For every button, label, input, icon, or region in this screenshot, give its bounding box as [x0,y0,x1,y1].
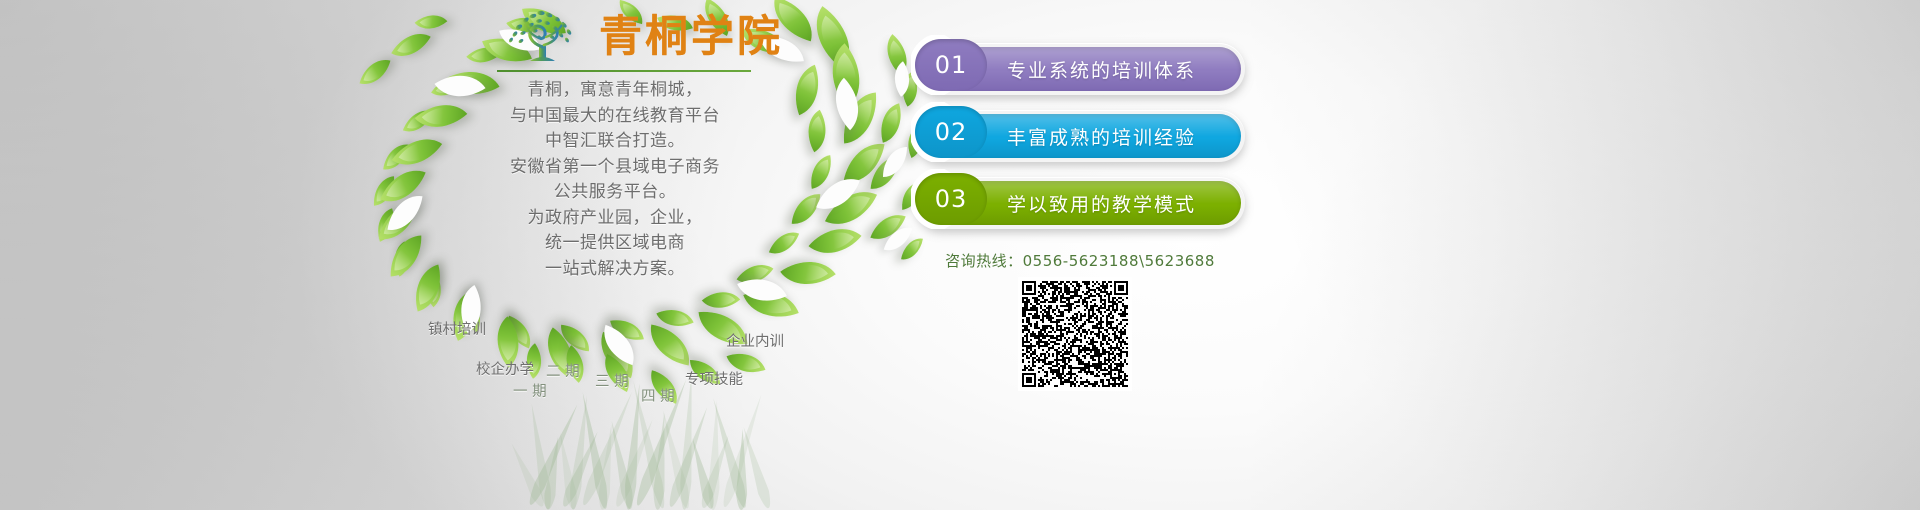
stage-label: 一 期 [513,380,547,401]
description-line: 公共服务平台。 [470,180,760,206]
leaf-shape [769,226,799,260]
logo-divider [497,70,751,72]
description-line: 统一提供区域电商 [470,231,760,257]
feature-badge-number: 03 [915,173,987,225]
description-line: 安徽省第一个县域电子商务 [470,155,760,181]
leaf-shape [785,65,829,115]
qr-code [1018,277,1132,391]
qr-code-canvas [1022,281,1128,387]
feature-badge-label: 丰富成熟的培训经验 [1007,114,1196,158]
feature-badge-label: 学以致用的教学模式 [1007,181,1196,225]
stage-label: 镇村培训 [428,318,486,339]
leaf-shape [874,103,908,143]
leaf-shape [389,235,422,276]
leaf-shape [807,155,836,189]
leaf-shape [797,110,837,152]
page-title: 青桐学院 [599,14,783,60]
stage-label: 二 期 [546,360,580,381]
banner-root: 青桐学院 青桐，寓意青年桐城，与中国最大的在线教育平台中智汇联合打造。安徽省第一… [0,0,1920,510]
feature-badge[interactable]: 专业系统的培训体系01 [915,43,1245,95]
stage-label: 三 期 [595,370,629,391]
feature-badge[interactable]: 学以致用的教学模式03 [915,177,1245,229]
stage-label: 专项技能 [685,368,743,389]
leaf-shape [645,324,694,365]
description-line: 一站式解决方案。 [470,257,760,283]
feature-badge[interactable]: 丰富成熟的培训经验02 [915,110,1245,162]
stage-label: 四 期 [641,385,675,406]
stage-label: 企业内训 [726,330,784,351]
feature-badge-panel: 专业系统的培训体系01丰富成熟的培训经验02学以致用的教学模式03 [915,43,1245,244]
leaf-shape [415,90,468,142]
hotline-text: 咨询热线：0556-5623188\5623688 [915,250,1245,271]
description-paragraph: 青桐，寓意青年桐城，与中国最大的在线教育平台中智汇联合打造。安徽省第一个县域电子… [470,78,760,282]
brand-logo-block: 青桐学院 [497,8,757,72]
leaf-shadow-shape [883,147,907,177]
leaf-shape [780,246,836,299]
leaf-shape [360,54,391,89]
leaf-shape [407,265,448,312]
feature-badge-number: 01 [915,39,987,91]
description-line: 青桐，寓意青年桐城， [470,78,760,104]
description-line: 中智汇联合打造。 [470,129,760,155]
description-line: 与中国最大的在线教育平台 [470,104,760,130]
feature-badge-label: 专业系统的培训体系 [1007,47,1196,91]
stage-label: 校企办学 [476,358,534,379]
leaf-shape [391,24,431,66]
tree-icon [497,9,589,65]
description-line: 为政府产业园，企业， [470,206,760,232]
feature-badge-number: 02 [915,106,987,158]
leaf-shape [792,192,821,226]
